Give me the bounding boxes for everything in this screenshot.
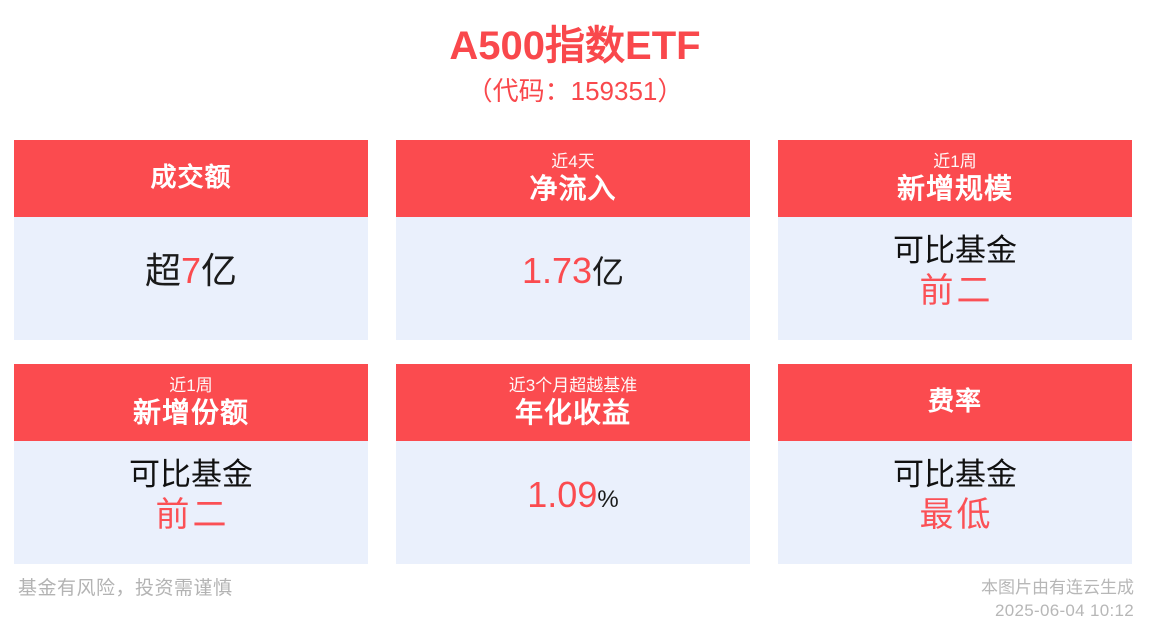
card-header-sub-label: 近3个月超越基准 <box>509 375 637 396</box>
value-comparison-label: 可比基金 <box>893 233 1017 269</box>
card-body-net-inflow: 1.73亿 <box>396 217 750 340</box>
generation-credit: 本图片由有连云生成 2025-06-04 10:12 <box>981 576 1134 622</box>
page-title: A500指数ETF <box>0 22 1150 70</box>
card-header-turnover: 成交额 <box>14 140 368 217</box>
page-footer: 基金有风险，投资需谨慎 本图片由有连云生成 2025-06-04 10:12 <box>0 570 1150 632</box>
page-header: A500指数ETF （代码：159351） <box>0 0 1150 108</box>
card-header-annualized-return: 近3个月超越基准 年化收益 <box>396 364 750 441</box>
value-unit: 亿 <box>592 254 624 290</box>
card-header-main-label: 新增份额 <box>133 396 249 429</box>
value-number: 1.73 <box>522 250 592 291</box>
card-header-main-label: 费率 <box>928 385 982 418</box>
value-prefix: 超 <box>145 250 181 291</box>
value-unit: % <box>597 486 618 513</box>
card-value-annualized-return: 1.09% <box>527 475 618 515</box>
card-header-main-label: 成交额 <box>150 161 231 194</box>
credit-timestamp: 2025-06-04 10:12 <box>981 599 1134 622</box>
card-header-main-label: 净流入 <box>529 172 616 205</box>
card-value-turnover: 超7亿 <box>145 251 237 291</box>
metric-card-fee-rate[interactable]: 费率 可比基金 最低 <box>778 364 1132 564</box>
card-body-turnover: 超7亿 <box>14 217 368 340</box>
value-rank: 前二 <box>156 495 230 535</box>
card-header-fee-rate: 费率 <box>778 364 1132 441</box>
card-header-new-shares: 近1周 新增份额 <box>14 364 368 441</box>
value-rank: 最低 <box>920 495 994 535</box>
value-number: 1.09 <box>527 474 597 515</box>
metric-card-new-shares[interactable]: 近1周 新增份额 可比基金 前二 <box>14 364 368 564</box>
risk-disclaimer: 基金有风险，投资需谨慎 <box>18 576 233 602</box>
card-header-main-label: 新增规模 <box>897 172 1013 205</box>
value-rank: 前二 <box>920 271 994 311</box>
value-comparison-label: 可比基金 <box>129 457 253 493</box>
card-body-new-scale: 可比基金 前二 <box>778 217 1132 340</box>
page-subtitle-code: （代码：159351） <box>0 74 1150 108</box>
card-header-new-scale: 近1周 新增规模 <box>778 140 1132 217</box>
card-header-net-inflow: 近4天 净流入 <box>396 140 750 217</box>
card-header-sub-label: 近1周 <box>933 151 976 172</box>
value-number: 7 <box>181 250 201 291</box>
metric-card-new-scale[interactable]: 近1周 新增规模 可比基金 前二 <box>778 140 1132 340</box>
metric-card-annualized-return[interactable]: 近3个月超越基准 年化收益 1.09% <box>396 364 750 564</box>
credit-source: 本图片由有连云生成 <box>981 578 1134 597</box>
card-header-main-label: 年化收益 <box>515 396 631 429</box>
card-body-new-shares: 可比基金 前二 <box>14 441 368 564</box>
card-header-sub-label: 近1周 <box>169 375 212 396</box>
metric-card-grid: 成交额 超7亿 近4天 净流入 1.73亿 近1周 新增规模 可比基金 前二 <box>14 140 1136 564</box>
value-comparison-label: 可比基金 <box>893 457 1017 493</box>
card-body-fee-rate: 可比基金 最低 <box>778 441 1132 564</box>
card-value-net-inflow: 1.73亿 <box>522 251 624 291</box>
card-body-annualized-return: 1.09% <box>396 441 750 564</box>
metric-card-net-inflow[interactable]: 近4天 净流入 1.73亿 <box>396 140 750 340</box>
metric-card-turnover[interactable]: 成交额 超7亿 <box>14 140 368 340</box>
value-unit: 亿 <box>201 250 237 291</box>
card-header-sub-label: 近4天 <box>551 151 594 172</box>
